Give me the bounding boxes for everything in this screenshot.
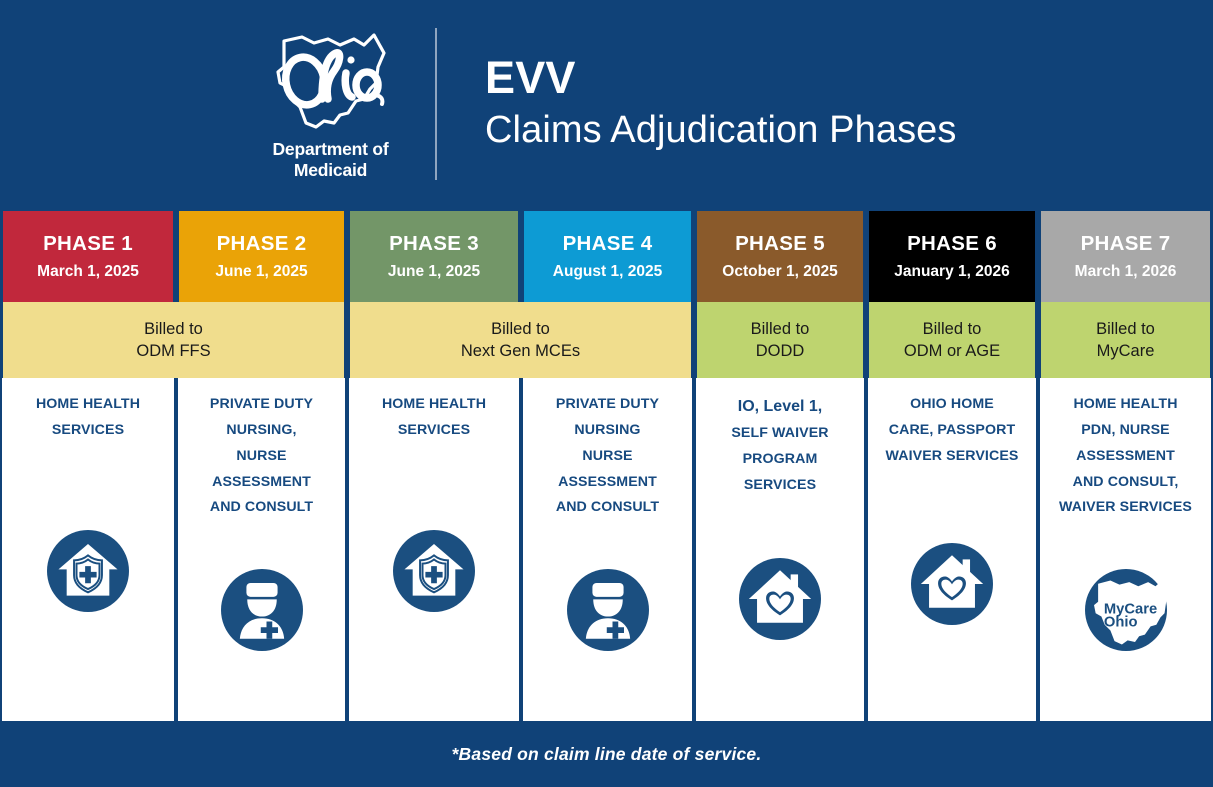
billed-to-payer: MyCare xyxy=(1097,340,1155,362)
ohio-state-outline-script-logo-icon xyxy=(266,27,396,135)
footnote: *Based on claim line date of service. xyxy=(452,744,762,765)
phase-name: PHASE 7 xyxy=(1081,233,1171,256)
svg-text:Ohio: Ohio xyxy=(1103,615,1137,631)
infographic-page: Department of Medicaid EVV Claims Adjudi… xyxy=(0,0,1213,787)
ohio-medicaid-logo: Department of Medicaid xyxy=(248,27,413,180)
service-line: SERVICES xyxy=(731,473,828,499)
service-line: HOME HEALTH xyxy=(1059,392,1192,418)
title-block: EVV Claims Adjudication Phases xyxy=(485,54,957,155)
billed-to-label: Billed to xyxy=(144,318,203,340)
service-line: WAIVER SERVICES xyxy=(1059,495,1192,521)
service-line: SELF WAIVER xyxy=(731,421,828,447)
service-line: HOME HEALTH xyxy=(36,392,140,418)
phase-header-row: PHASE 1March 1, 2025PHASE 2June 1, 2025P… xyxy=(0,208,1213,302)
service-line: WAIVER SERVICES xyxy=(886,444,1019,470)
billed-to-cell-1: Billed toODM FFS xyxy=(0,302,347,378)
service-list: HOME HEALTHPDN, NURSEASSESSMENTAND CONSU… xyxy=(1053,392,1198,521)
billed-to-payer: Next Gen MCEs xyxy=(461,340,580,362)
phase-header-cell-4[interactable]: PHASE 4August 1, 2025 xyxy=(521,211,694,302)
service-line: HOME HEALTH xyxy=(382,392,486,418)
phase-date: January 1, 2026 xyxy=(894,263,1009,280)
phase-name: PHASE 3 xyxy=(389,233,479,256)
phase-header-cell-3[interactable]: PHASE 3June 1, 2025 xyxy=(347,211,521,302)
service-cell-7: HOME HEALTHPDN, NURSEASSESSMENTAND CONSU… xyxy=(1038,378,1213,721)
service-cell-6: OHIO HOMECARE, PASSPORTWAIVER SERVICES xyxy=(866,378,1038,721)
service-line: AND CONSULT, xyxy=(1059,470,1192,496)
billed-to-payer: ODM or AGE xyxy=(904,340,1000,362)
billed-to-label: Billed to xyxy=(491,318,550,340)
service-list: OHIO HOMECARE, PASSPORTWAIVER SERVICES xyxy=(880,392,1025,470)
phase-header-cell-1[interactable]: PHASE 1March 1, 2025 xyxy=(0,211,176,302)
page-header: Department of Medicaid EVV Claims Adjudi… xyxy=(0,0,1213,208)
phase-header-cell-6[interactable]: PHASE 6January 1, 2026 xyxy=(866,211,1038,302)
house-heart-icon xyxy=(739,558,821,640)
service-line: AND CONSULT xyxy=(556,495,659,521)
header-divider xyxy=(435,28,437,180)
service-icon-wrap xyxy=(2,444,174,713)
house-heart-icon xyxy=(911,543,993,625)
house-shield-cross-icon xyxy=(47,530,129,612)
service-icon-wrap xyxy=(349,444,519,713)
service-line: PRIVATE DUTY xyxy=(556,392,659,418)
agency-name: Department of Medicaid xyxy=(272,139,388,180)
service-cell-4: PRIVATE DUTYNURSINGNURSEASSESSMENTAND CO… xyxy=(521,378,694,721)
service-line: ASSESSMENT xyxy=(1059,444,1192,470)
phase-date: June 1, 2025 xyxy=(215,263,307,280)
phase-date: March 1, 2026 xyxy=(1075,263,1177,280)
service-list: HOME HEALTHSERVICES xyxy=(30,392,146,444)
phase-date: June 1, 2025 xyxy=(388,263,480,280)
service-line: PROGRAM xyxy=(731,447,828,473)
phase-name: PHASE 5 xyxy=(735,233,825,256)
service-icon-wrap xyxy=(868,470,1036,713)
page-subtitle: Claims Adjudication Phases xyxy=(485,107,957,155)
service-cell-3: HOME HEALTHSERVICES xyxy=(347,378,521,721)
service-cell-1: HOME HEALTHSERVICES xyxy=(0,378,176,721)
service-icon-wrap xyxy=(696,499,864,713)
phase-header-cell-7[interactable]: PHASE 7March 1, 2026 xyxy=(1038,211,1213,302)
page-footer: *Based on claim line date of service. xyxy=(0,721,1213,787)
service-icon-wrap: MyCareOhio xyxy=(1040,521,1211,713)
billed-to-label: Billed to xyxy=(1096,318,1155,340)
service-line: IO, Level 1, xyxy=(731,392,828,421)
service-icon-wrap xyxy=(178,521,345,713)
phase-date: October 1, 2025 xyxy=(722,263,837,280)
service-line: PDN, NURSE xyxy=(1059,418,1192,444)
phase-date: March 1, 2025 xyxy=(37,263,139,280)
service-line: AND CONSULT xyxy=(210,495,313,521)
service-line: ASSESSMENT xyxy=(556,470,659,496)
agency-line-2: Medicaid xyxy=(272,160,388,181)
service-line: NURSE xyxy=(556,444,659,470)
service-list: PRIVATE DUTYNURSING,NURSEASSESSMENTAND C… xyxy=(204,392,319,521)
phases-table: PHASE 1March 1, 2025PHASE 2June 1, 2025P… xyxy=(0,208,1213,721)
service-line: NURSING, xyxy=(210,418,313,444)
billed-to-payer: DODD xyxy=(756,340,805,362)
phase-header-cell-5[interactable]: PHASE 5October 1, 2025 xyxy=(694,211,866,302)
phase-date: August 1, 2025 xyxy=(553,263,662,280)
service-line: NURSE xyxy=(210,444,313,470)
service-line: CARE, PASSPORT xyxy=(886,418,1019,444)
house-shield-cross-icon xyxy=(393,530,475,612)
phase-name: PHASE 6 xyxy=(907,233,997,256)
agency-line-1: Department of xyxy=(272,139,388,160)
service-list: HOME HEALTHSERVICES xyxy=(376,392,492,444)
nurse-person-cross-icon xyxy=(567,569,649,651)
page-title: EVV xyxy=(485,54,957,101)
billed-to-label: Billed to xyxy=(923,318,982,340)
services-row: HOME HEALTHSERVICESPRIVATE DUTYNURSING,N… xyxy=(0,378,1213,721)
service-cell-2: PRIVATE DUTYNURSING,NURSEASSESSMENTAND C… xyxy=(176,378,347,721)
service-list: IO, Level 1,SELF WAIVERPROGRAMSERVICES xyxy=(725,392,834,499)
service-list: PRIVATE DUTYNURSINGNURSEASSESSMENTAND CO… xyxy=(550,392,665,521)
billed-to-row: Billed toODM FFSBilled toNext Gen MCEsBi… xyxy=(0,302,1213,378)
service-line: NURSING xyxy=(556,418,659,444)
service-line: ASSESSMENT xyxy=(210,470,313,496)
service-line: OHIO HOME xyxy=(886,392,1019,418)
billed-to-payer: ODM FFS xyxy=(136,340,210,362)
phase-header-cell-2[interactable]: PHASE 2June 1, 2025 xyxy=(176,211,347,302)
billed-to-cell-3: Billed toDODD xyxy=(694,302,866,378)
service-line: SERVICES xyxy=(36,418,140,444)
nurse-person-cross-icon xyxy=(221,569,303,651)
phase-name: PHASE 4 xyxy=(563,233,653,256)
service-icon-wrap xyxy=(523,521,692,713)
phase-name: PHASE 2 xyxy=(217,233,307,256)
billed-to-cell-4: Billed toODM or AGE xyxy=(866,302,1038,378)
service-line: PRIVATE DUTY xyxy=(210,392,313,418)
phase-name: PHASE 1 xyxy=(43,233,133,256)
service-cell-5: IO, Level 1,SELF WAIVERPROGRAMSERVICES xyxy=(694,378,866,721)
billed-to-cell-5: Billed toMyCare xyxy=(1038,302,1213,378)
billed-to-label: Billed to xyxy=(751,318,810,340)
mycare-ohio-logo-icon: MyCareOhio xyxy=(1085,569,1167,651)
billed-to-cell-2: Billed toNext Gen MCEs xyxy=(347,302,694,378)
service-line: SERVICES xyxy=(382,418,486,444)
